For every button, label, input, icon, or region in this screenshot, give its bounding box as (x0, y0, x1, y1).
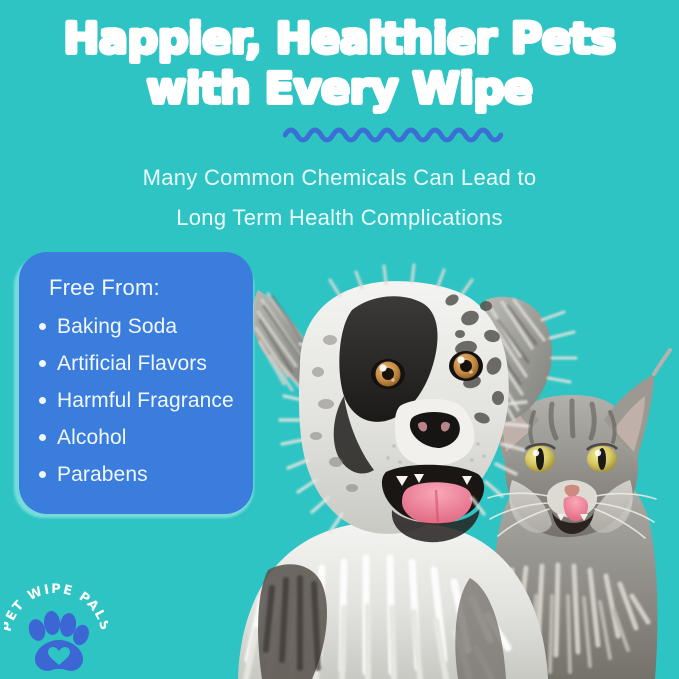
list-item-label: Harmful Fragrance (57, 389, 234, 412)
free-from-card: Free From: Baking Soda Artificial Flavor… (19, 252, 253, 514)
wavy-underline-icon (283, 122, 503, 144)
list-item-label: Alcohol (57, 426, 127, 449)
list-item: Baking Soda (37, 308, 237, 345)
headline-line-1: Happier, Healthier Pets (0, 14, 679, 64)
free-from-title: Free From: (49, 274, 237, 302)
list-item-label: Baking Soda (57, 315, 177, 338)
subtitle-line-1: Many Common Chemicals Can Lead to (0, 158, 679, 198)
subtitle-line-2: Long Term Health Complications (0, 198, 679, 238)
list-item: Alcohol (37, 419, 237, 456)
bullet-icon (39, 360, 46, 367)
dog-right-eye (449, 351, 483, 381)
dog-left-eye (371, 359, 405, 389)
list-item: Artificial Flavors (37, 345, 237, 382)
list-item-label: Parabens (57, 463, 148, 486)
bullet-icon (39, 323, 46, 330)
bullet-icon (39, 434, 46, 441)
free-from-list: Baking Soda Artificial Flavors Harmful F… (37, 308, 237, 493)
brand-logo[interactable]: PET WIPE PALS (4, 583, 108, 673)
bullet-icon (39, 471, 46, 478)
bullet-icon (39, 397, 46, 404)
list-item: Parabens (37, 456, 237, 493)
list-item: Harmful Fragrance (37, 382, 237, 419)
list-item-label: Artificial Flavors (57, 352, 207, 375)
headline-line-2: with Every Wipe (0, 64, 679, 114)
pet-wipe-pals-product-banner: Free From: Baking Soda Artificial Flavor… (0, 0, 679, 679)
subtitle-block: Many Common Chemicals Can Lead to Long T… (0, 158, 679, 238)
headline-block: Happier, Healthier Pets with Every Wipe (0, 14, 679, 114)
